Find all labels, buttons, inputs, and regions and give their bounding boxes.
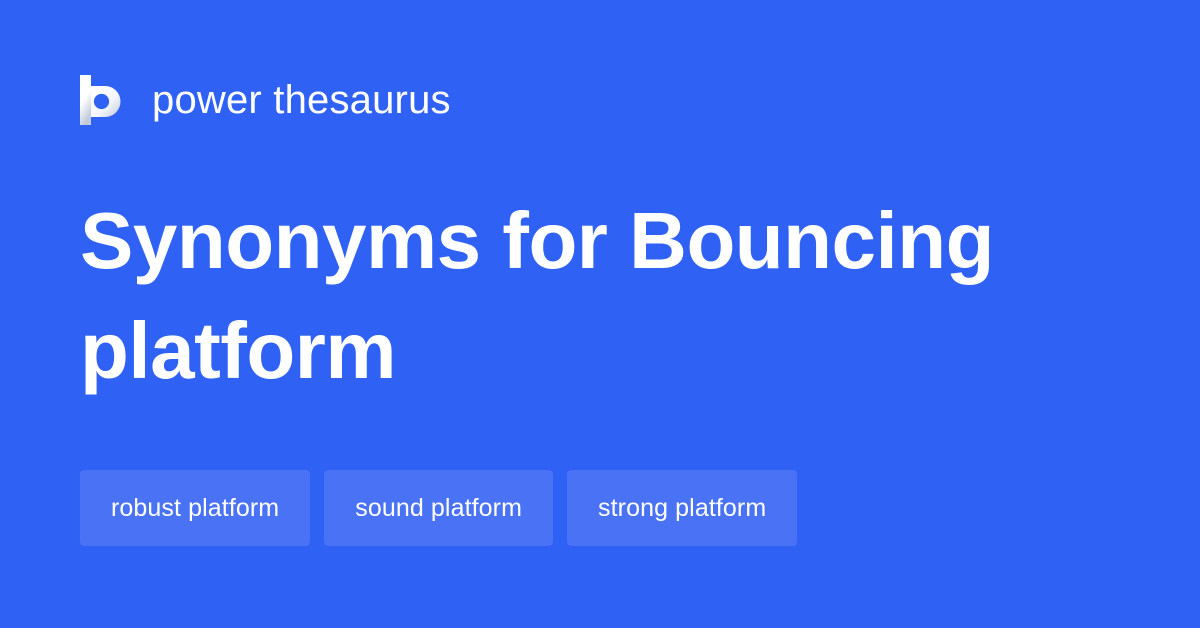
share-card: power thesaurus Synonyms for Bouncing pl…: [0, 0, 1200, 628]
synonym-chip-label: sound platform: [355, 496, 522, 521]
brand-logo[interactable]: power thesaurus: [80, 72, 451, 128]
synonym-chip-label: robust platform: [111, 496, 279, 521]
synonym-chip-list: robust platform sound platform strong pl…: [80, 470, 797, 546]
synonym-chip[interactable]: strong platform: [567, 470, 797, 546]
synonym-chip-label: strong platform: [598, 496, 766, 521]
synonym-chip[interactable]: sound platform: [324, 470, 553, 546]
brand-name: power thesaurus: [152, 80, 451, 120]
synonym-chip[interactable]: robust platform: [80, 470, 310, 546]
power-thesaurus-b-logo-icon: [80, 75, 122, 125]
page-title: Synonyms for Bouncing platform: [80, 186, 1080, 406]
